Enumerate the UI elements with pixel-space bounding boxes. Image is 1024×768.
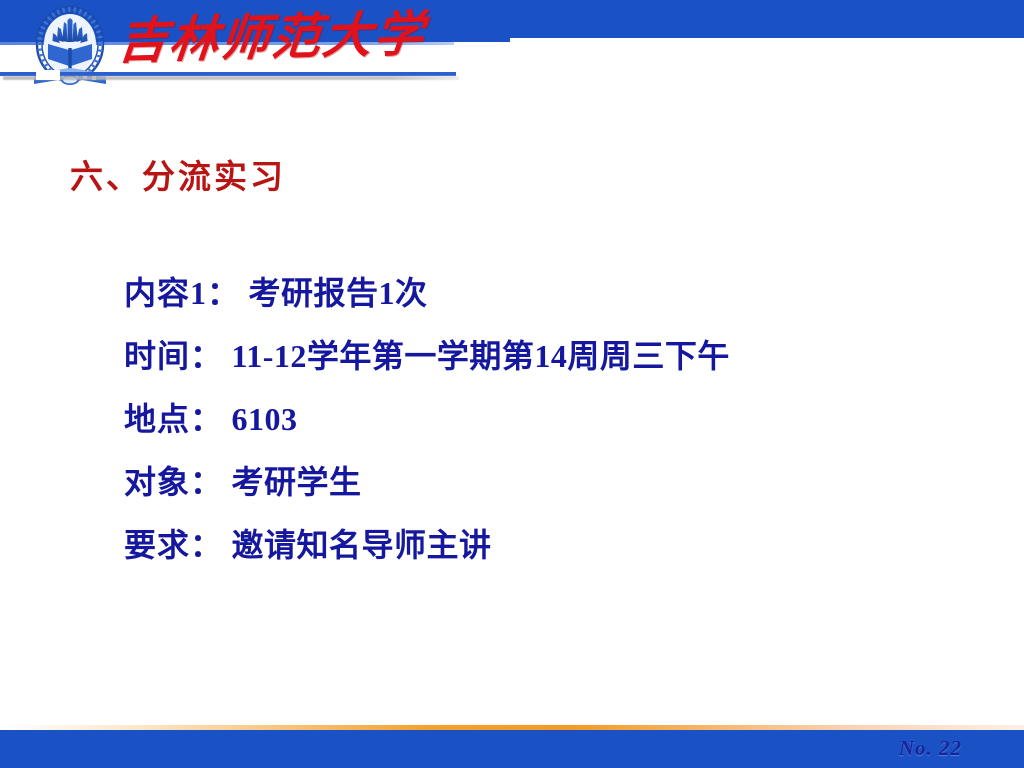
header-band-right [508,0,1024,38]
content-line-label: 地点： [124,401,223,437]
page-number: No. 22 [899,736,962,761]
content-line: 时间： 11-12学年第一学期第14周周三下午 [124,325,984,388]
content-line-value: 考研学生 [232,464,362,500]
content-line-value: 6103 [232,401,298,437]
content-line: 地点： 6103 [124,388,984,451]
slide-body: 内容1： 考研报告1次 时间： 11-12学年第一学期第14周周三下午 地点： … [124,262,984,577]
content-line: 内容1： 考研报告1次 [124,262,984,325]
content-line-label: 对象： [124,464,223,500]
content-line-value: 邀请知名导师主讲 [232,527,492,563]
slide-canvas: 吉林师范大学 六、分流实习 内容1： 考研报告1次 时间： 11-12学年第一学… [0,0,1024,768]
slide-footer [0,730,1024,768]
content-line-value: 11-12学年第一学期第14周周三下午 [232,338,730,374]
content-line-label: 内容1： [124,275,240,311]
content-line-value: 考研报告1次 [249,275,428,311]
slide-title: 六、分流实习 [70,150,286,198]
slide-header: 吉林师范大学 [0,0,1024,100]
header-divider-gap [36,70,60,80]
content-line: 要求： 邀请知名导师主讲 [124,514,984,577]
university-crest-icon [26,4,114,94]
university-name: 吉林师范大学 [115,3,482,74]
content-line-label: 要求： [124,527,223,563]
content-line: 对象： 考研学生 [124,451,984,514]
header-divider-shadow [3,76,459,80]
content-line-label: 时间： [124,338,223,374]
